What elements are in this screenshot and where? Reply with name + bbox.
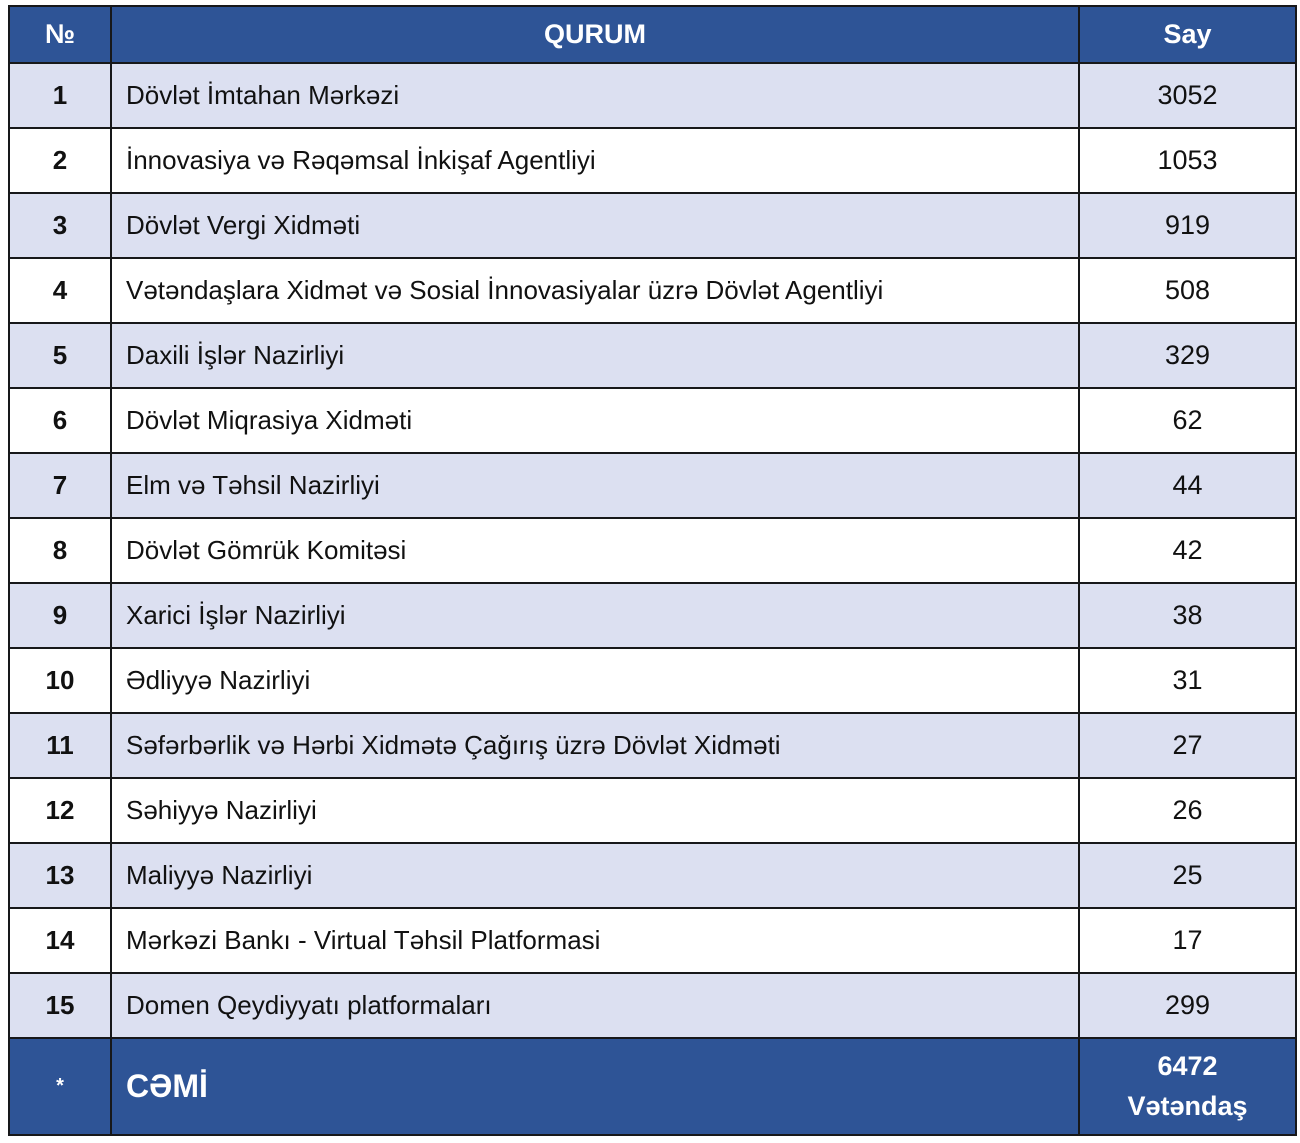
row-count: 329 [1079,323,1296,388]
total-count-number: 6472 [1090,1047,1285,1086]
row-agency: Mərkəzi Bankı - Virtual Təhsil Platforma… [111,908,1079,973]
row-count: 17 [1079,908,1296,973]
row-number: 12 [9,778,111,843]
row-count: 299 [1079,973,1296,1038]
total-label: CƏMİ [111,1038,1079,1135]
row-agency: Xarici İşlər Nazirliyi [111,583,1079,648]
row-count: 25 [1079,843,1296,908]
row-count: 31 [1079,648,1296,713]
table-row: 5 Daxili İşlər Nazirliyi 329 [9,323,1296,388]
row-count: 3052 [1079,63,1296,128]
table-screenshot: № QURUM Say 1 Dövlət İmtahan Mərkəzi 305… [0,0,1300,1143]
total-count-unit: Vətəndaş [1090,1087,1285,1126]
row-agency: Səhiyyə Nazirliyi [111,778,1079,843]
table-row: 15 Domen Qeydiyyatı platformaları 299 [9,973,1296,1038]
total-marker: * [9,1038,111,1135]
row-count: 38 [1079,583,1296,648]
row-agency: Dövlət İmtahan Mərkəzi [111,63,1079,128]
table-header: № QURUM Say [9,6,1296,63]
column-header-qurum: QURUM [111,6,1079,63]
row-count: 62 [1079,388,1296,453]
table-row: 13 Maliyyə Nazirliyi 25 [9,843,1296,908]
table-row: 14 Mərkəzi Bankı - Virtual Təhsil Platfo… [9,908,1296,973]
row-number: 2 [9,128,111,193]
table-row: 7 Elm və Təhsil Nazirliyi 44 [9,453,1296,518]
row-count: 27 [1079,713,1296,778]
column-header-say: Say [1079,6,1296,63]
row-count: 26 [1079,778,1296,843]
row-agency: Daxili İşlər Nazirliyi [111,323,1079,388]
row-number: 4 [9,258,111,323]
row-number: 8 [9,518,111,583]
row-agency: Maliyyə Nazirliyi [111,843,1079,908]
table-row: 4 Vətəndaşlara Xidmət və Sosial İnnovasi… [9,258,1296,323]
row-number: 14 [9,908,111,973]
row-number: 13 [9,843,111,908]
row-count: 919 [1079,193,1296,258]
header-row: № QURUM Say [9,6,1296,63]
row-agency: Vətəndaşlara Xidmət və Sosial İnnovasiya… [111,258,1079,323]
row-count: 42 [1079,518,1296,583]
table-row: 3 Dövlət Vergi Xidməti 919 [9,193,1296,258]
table-row: 10 Ədliyyə Nazirliyi 31 [9,648,1296,713]
row-number: 7 [9,453,111,518]
table-row: 8 Dövlət Gömrük Komitəsi 42 [9,518,1296,583]
total-count: 6472 Vətəndaş [1079,1038,1296,1135]
row-number: 5 [9,323,111,388]
row-agency: İnnovasiya və Rəqəmsal İnkişaf Agentliyi [111,128,1079,193]
row-number: 15 [9,973,111,1038]
row-number: 9 [9,583,111,648]
row-number: 3 [9,193,111,258]
row-number: 6 [9,388,111,453]
row-number: 1 [9,63,111,128]
total-row: * CƏMİ 6472 Vətəndaş [9,1038,1296,1135]
row-count: 508 [1079,258,1296,323]
column-header-no: № [9,6,111,63]
row-agency: Elm və Təhsil Nazirliyi [111,453,1079,518]
table-row: 12 Səhiyyə Nazirliyi 26 [9,778,1296,843]
row-count: 44 [1079,453,1296,518]
table-row: 11 Səfərbərlik və Hərbi Xidmətə Çağırış … [9,713,1296,778]
row-agency: Dövlət Gömrük Komitəsi [111,518,1079,583]
row-agency: Ədliyyə Nazirliyi [111,648,1079,713]
row-number: 10 [9,648,111,713]
table-body: 1 Dövlət İmtahan Mərkəzi 3052 2 İnnovasi… [9,63,1296,1038]
row-number: 11 [9,713,111,778]
row-agency: Dövlət Miqrasiya Xidməti [111,388,1079,453]
table-row: 6 Dövlət Miqrasiya Xidməti 62 [9,388,1296,453]
row-agency: Səfərbərlik və Hərbi Xidmətə Çağırış üzr… [111,713,1079,778]
table-row: 1 Dövlət İmtahan Mərkəzi 3052 [9,63,1296,128]
row-agency: Domen Qeydiyyatı platformaları [111,973,1079,1038]
table-row: 2 İnnovasiya və Rəqəmsal İnkişaf Agentli… [9,128,1296,193]
agency-count-table: № QURUM Say 1 Dövlət İmtahan Mərkəzi 305… [8,5,1297,1136]
row-count: 1053 [1079,128,1296,193]
row-agency: Dövlət Vergi Xidməti [111,193,1079,258]
table-container: № QURUM Say 1 Dövlət İmtahan Mərkəzi 305… [8,5,1295,1138]
table-row: 9 Xarici İşlər Nazirliyi 38 [9,583,1296,648]
table-footer: * CƏMİ 6472 Vətəndaş [9,1038,1296,1135]
